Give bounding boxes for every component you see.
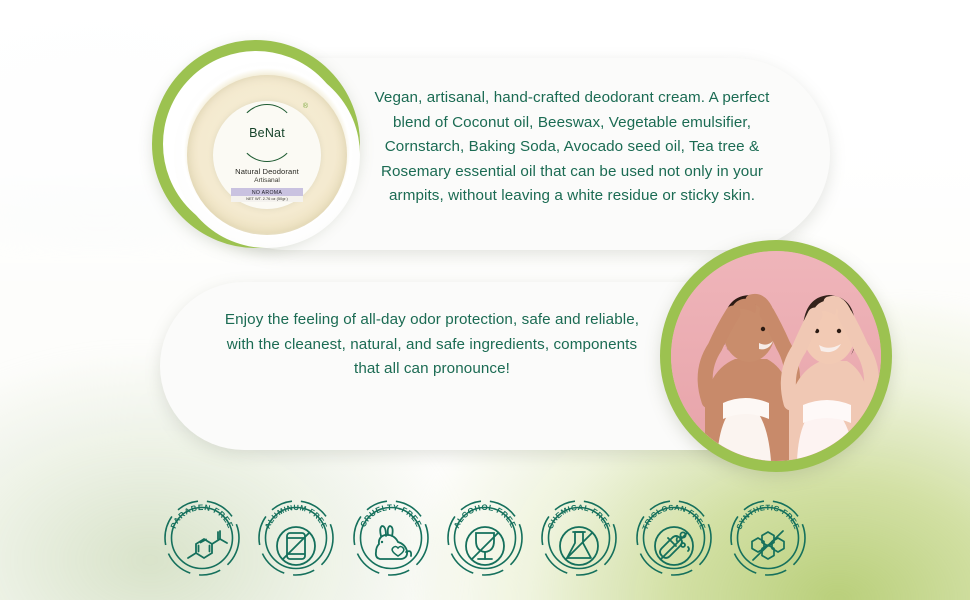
badge-label: ALUMINUM FREE	[263, 503, 329, 530]
top-description-text: Vegan, artisanal, hand-crafted deodorant…	[362, 86, 782, 209]
crossed-can-icon	[277, 527, 315, 565]
crossed-flask-icon	[560, 527, 598, 565]
registered-mark-icon: ®	[303, 103, 308, 110]
svg-text:ALCOHOL FREE: ALCOHOL FREE	[452, 503, 518, 530]
badge-cruelty-free: CRUELTY-FREE	[349, 488, 433, 584]
badge-synthetic-free: SYNTHETIC-FREE	[726, 488, 810, 584]
svg-text:CRUELTY-FREE: CRUELTY-FREE	[358, 503, 423, 529]
rabbit-heart-icon	[375, 526, 410, 559]
svg-text:PARABEN FREE: PARABEN FREE	[169, 503, 235, 530]
certification-badge-row: PARABEN FREE ALUMINUM FREE	[160, 488, 810, 588]
brand-logo-circle: BeNat ®	[238, 104, 296, 162]
models-illustration	[671, 251, 881, 461]
badge-paraben-free: PARABEN FREE	[160, 488, 244, 584]
benzene-ring-icon	[188, 531, 227, 558]
models-image-circle	[660, 240, 892, 472]
crossed-honeycomb-icon	[752, 531, 784, 560]
jar-label: BeNat ® Natural Deodorant Artisanal NO A…	[213, 101, 321, 209]
badge-label: PARABEN FREE	[169, 503, 235, 530]
product-jar-photo: BeNat ® Natural Deodorant Artisanal NO A…	[174, 62, 360, 248]
badge-chemical-free: CHEMICAL FREE	[537, 488, 621, 584]
crossed-capsule-icon	[655, 527, 693, 565]
variant-badge: NO AROMA	[231, 188, 303, 196]
product-marketing-banner: Vegan, artisanal, hand-crafted deodorant…	[0, 0, 970, 600]
badge-aluminum-free: ALUMINUM FREE	[254, 488, 338, 584]
badge-alcohol-free: ALCOHOL FREE	[443, 488, 527, 584]
badge-triclosan-free: TRICLOSAN FREE	[632, 488, 716, 584]
net-weight-text: NET WT. 2.76 oz (50gr.)	[231, 196, 303, 202]
badge-label: ALCOHOL FREE	[452, 503, 518, 530]
brand-name: BeNat	[249, 126, 285, 140]
product-image-circle: BeNat ® Natural Deodorant Artisanal NO A…	[152, 40, 360, 248]
badge-label: SYNTHETIC-FREE	[735, 503, 802, 531]
bottom-description-text: Enjoy the feeling of all-day odor protec…	[222, 308, 642, 382]
badge-label: CRUELTY-FREE	[358, 503, 423, 529]
product-line-secondary: Artisanal	[254, 177, 280, 184]
models-photo	[671, 251, 881, 461]
svg-text:ALUMINUM FREE: ALUMINUM FREE	[263, 503, 329, 530]
svg-text:SYNTHETIC-FREE: SYNTHETIC-FREE	[735, 503, 802, 531]
product-line-primary: Natural Deodorant	[235, 167, 299, 176]
crossed-wine-glass-icon	[466, 527, 504, 565]
